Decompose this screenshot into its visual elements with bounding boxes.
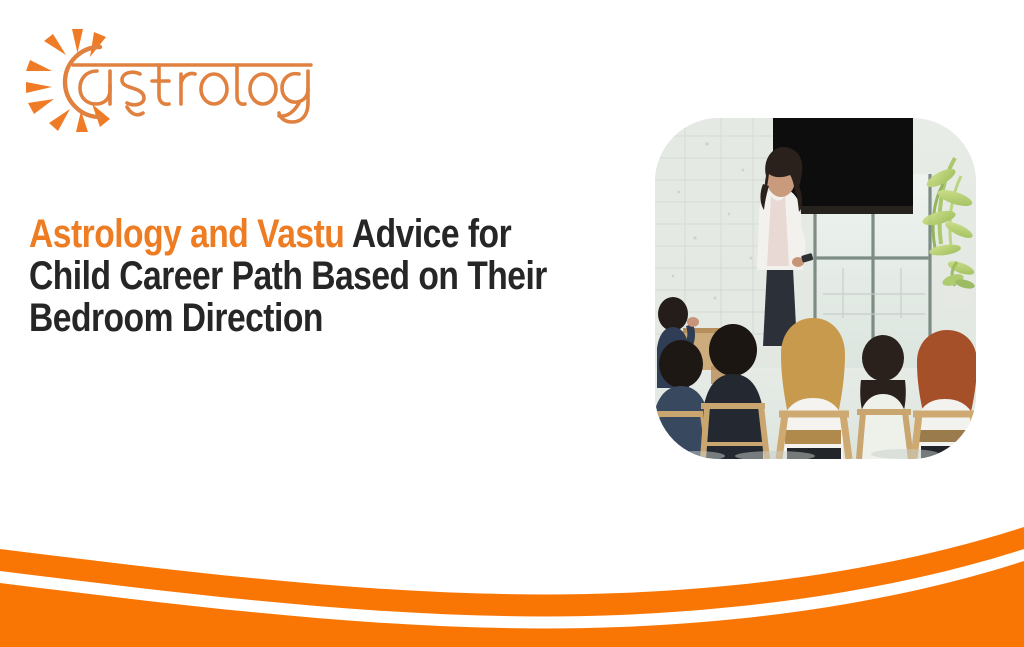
- decorative-wave: [0, 487, 1024, 647]
- brand-logo[interactable]: [22, 27, 312, 137]
- headline-line-3: Bedroom Direction: [29, 297, 499, 339]
- classroom-seminar-photo: [655, 118, 976, 459]
- headline-line-1-rest: Advice for: [344, 212, 511, 256]
- brand-wordmark: [67, 41, 317, 125]
- hero-image-frame: [655, 118, 976, 459]
- banner-canvas: Astrology and Vastu Advice for Child Car…: [0, 0, 1024, 647]
- headline-line-2: Child Career Path Based on Their: [29, 255, 499, 297]
- page-title: Astrology and Vastu Advice for Child Car…: [29, 213, 589, 339]
- headline-line-1: Astrology and Vastu Advice for: [29, 213, 499, 255]
- headline-accent-text: Astrology and Vastu: [29, 212, 344, 256]
